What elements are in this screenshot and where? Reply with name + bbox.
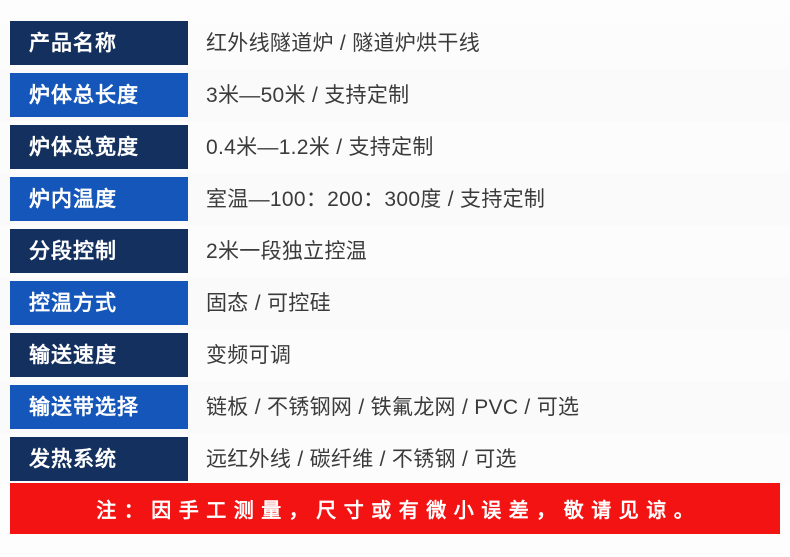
spec-label-text: 炉体总长度 <box>29 85 139 106</box>
table-row: 分段控制 2米一段独立控温 <box>0 225 790 277</box>
table-row: 炉体总宽度 0.4米—1.2米 / 支持定制 <box>0 121 790 173</box>
measurement-notice-banner: 注：因手工测量，尺寸或有微小误差，敬请见谅。 <box>10 483 780 534</box>
spec-label-cell: 输送速度 <box>10 333 188 377</box>
spec-label-cell: 产品名称 <box>10 21 188 65</box>
spec-value-cell: 红外线隧道炉 / 隧道炉烘干线 <box>188 33 790 54</box>
spec-label-cell: 发热系统 <box>10 437 188 481</box>
table-row: 炉内温度 室温—100：200：300度 / 支持定制 <box>0 173 790 225</box>
table-row: 发热系统 远红外线 / 碳纤维 / 不锈钢 / 可选 <box>0 433 790 485</box>
spec-value-cell: 3米—50米 / 支持定制 <box>188 85 790 106</box>
notice-text: 注：因手工测量，尺寸或有微小误差，敬请见谅。 <box>89 494 702 523</box>
spec-label-cell: 输送带选择 <box>10 385 188 429</box>
spec-value-cell: 0.4米—1.2米 / 支持定制 <box>188 137 790 158</box>
spec-label-text: 输送带选择 <box>29 397 139 418</box>
table-row: 输送速度 变频可调 <box>0 329 790 381</box>
table-row: 输送带选择 链板 / 不锈钢网 / 铁氟龙网 / PVC / 可选 <box>0 381 790 433</box>
table-row: 炉体总长度 3米—50米 / 支持定制 <box>0 69 790 121</box>
spec-label-cell: 控温方式 <box>10 281 188 325</box>
spec-value-cell: 远红外线 / 碳纤维 / 不锈钢 / 可选 <box>188 449 790 470</box>
spec-label-text: 炉内温度 <box>29 189 117 210</box>
table-row: 控温方式 固态 / 可控硅 <box>0 277 790 329</box>
spec-label-cell: 炉体总宽度 <box>10 125 188 169</box>
table-row: 产品名称 红外线隧道炉 / 隧道炉烘干线 <box>0 17 790 69</box>
product-spec-sheet: 产品名称 红外线隧道炉 / 隧道炉烘干线 炉体总长度 3米—50米 / 支持定制… <box>0 0 790 557</box>
spec-label-text: 产品名称 <box>29 33 117 54</box>
spec-label-text: 分段控制 <box>29 241 117 262</box>
spec-value-cell: 室温—100：200：300度 / 支持定制 <box>188 189 790 210</box>
spec-table: 产品名称 红外线隧道炉 / 隧道炉烘干线 炉体总长度 3米—50米 / 支持定制… <box>0 17 790 485</box>
spec-label-text: 炉体总宽度 <box>29 137 139 158</box>
spec-value-cell: 2米一段独立控温 <box>188 241 790 262</box>
spec-value-cell: 变频可调 <box>188 345 790 366</box>
spec-label-text: 发热系统 <box>29 449 117 470</box>
spec-label-cell: 炉体总长度 <box>10 73 188 117</box>
spec-label-cell: 分段控制 <box>10 229 188 273</box>
spec-value-cell: 链板 / 不锈钢网 / 铁氟龙网 / PVC / 可选 <box>188 397 790 418</box>
spec-label-text: 控温方式 <box>29 293 117 314</box>
spec-label-cell: 炉内温度 <box>10 177 188 221</box>
spec-value-cell: 固态 / 可控硅 <box>188 293 790 314</box>
spec-label-text: 输送速度 <box>29 345 117 366</box>
